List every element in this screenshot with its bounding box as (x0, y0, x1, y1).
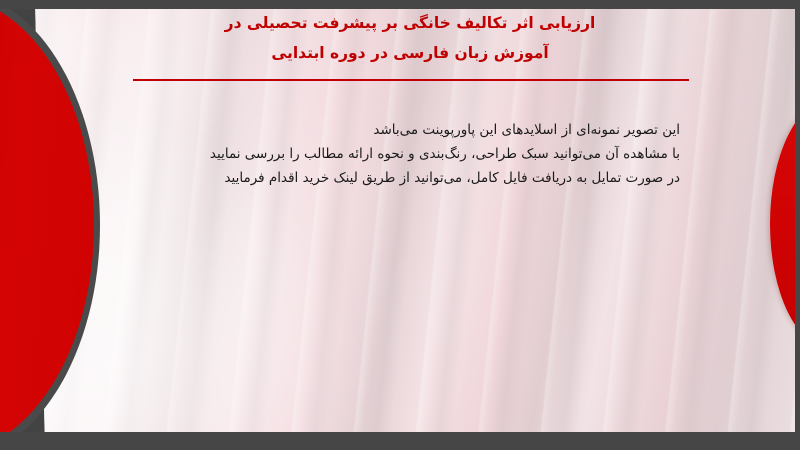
presentation-slide: ارزیابی اثر تکالیف خانگی بر پیشرفت تحصیل… (0, 0, 800, 450)
slide-title: ارزیابی اثر تکالیف خانگی بر پیشرفت تحصیل… (70, 8, 750, 68)
slide-body-line-1: این تصویر نمونه‌ای از اسلایدهای این پاور… (120, 118, 680, 142)
slide-title-line-2: آموزش زبان فارسی در دوره ابتدایی (70, 38, 750, 68)
slide-body-line-2: با مشاهده آن می‌توانید سبک طراحی، رنگ‌بن… (120, 142, 680, 166)
slide-title-line-1: ارزیابی اثر تکالیف خانگی بر پیشرفت تحصیل… (70, 8, 750, 38)
slide-body-line-3: در صورت تمایل به دریافت فایل کامل، می‌تو… (120, 166, 680, 190)
right-frame-band (795, 0, 800, 450)
slide-body-text: این تصویر نمونه‌ای از اسلایدهای این پاور… (120, 118, 680, 190)
title-underline-rule (133, 79, 689, 81)
bottom-frame-band (0, 432, 800, 450)
